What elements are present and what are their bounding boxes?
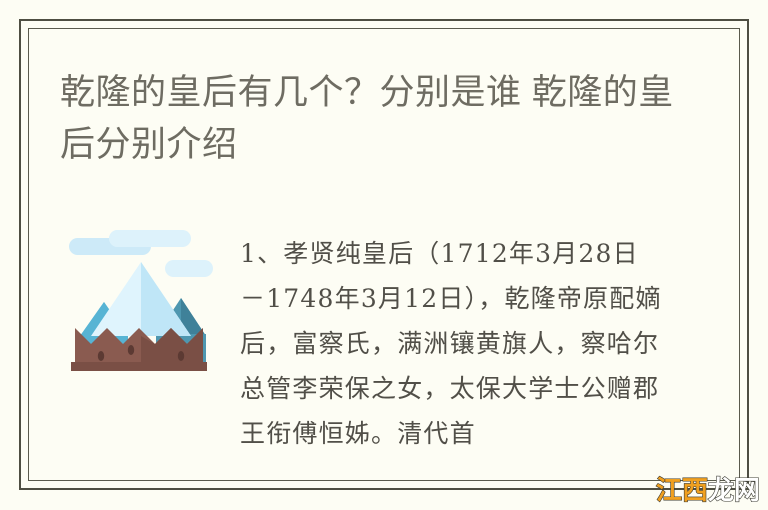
page-title: 乾隆的皇后有几个？分别是谁 乾隆的皇后分别介绍 xyxy=(60,67,680,171)
snow-mountain-icon xyxy=(65,224,216,384)
site-watermark: 江西龙网 xyxy=(656,476,760,506)
article-body-text: 1、孝贤纯皇后（1712年3月28日－1748年3月12日），乾隆帝原配嫡后，富… xyxy=(240,231,664,456)
watermark-text-secondary: 龙网 xyxy=(708,476,760,506)
article-card-content: 乾隆的皇后有几个？分别是谁 乾隆的皇后分别介绍 xyxy=(29,29,739,480)
article-card-frame: 乾隆的皇后有几个？分别是谁 乾隆的皇后分别介绍 xyxy=(19,19,749,490)
article-body-area: 1、孝贤纯皇后（1712年3月28日－1748年3月12日），乾隆帝原配嫡后，富… xyxy=(29,199,739,480)
article-card-inner-frame: 乾隆的皇后有几个？分别是谁 乾隆的皇后分别介绍 xyxy=(28,28,740,481)
watermark-text-primary: 江西 xyxy=(656,476,708,506)
